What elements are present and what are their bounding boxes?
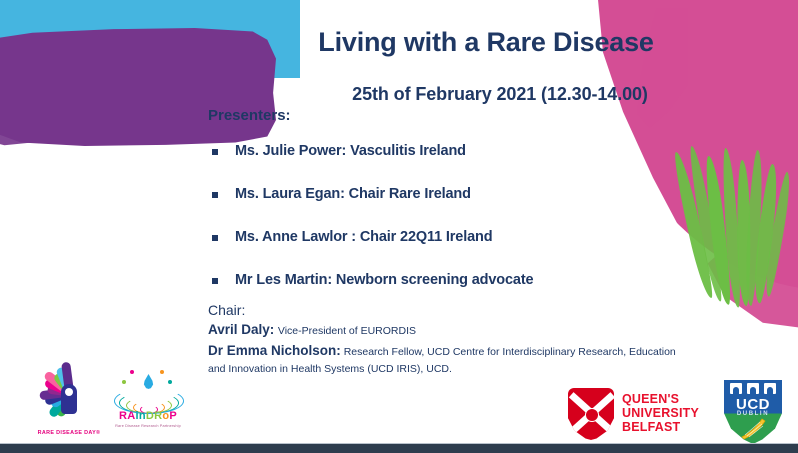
accent-dot-icon [168, 380, 172, 384]
purple-brush-wisp [0, 118, 230, 152]
page-title: Living with a Rare Disease [300, 28, 672, 58]
pink-brush-lower [698, 240, 798, 330]
square-bullet-icon [212, 192, 218, 198]
ucd-tower-icon-2 [747, 383, 759, 394]
raindrop-w2: in [135, 410, 145, 422]
rare-disease-day-caption: RARE DISEASE DAY® [33, 430, 105, 436]
chair-role: Vice-President of EURORDIS [278, 325, 416, 337]
green-brush-strokes [666, 146, 798, 316]
green-brush-blade [736, 160, 752, 306]
square-bullet-icon [212, 149, 218, 155]
shield-centre-emblem [585, 408, 599, 422]
chair-name: Avril Daly: [208, 322, 274, 337]
list-item: Ms. Laura Egan: Chair Rare Ireland [208, 186, 678, 202]
presenter-list: Ms. Julie Power: Vasculitis Ireland Ms. … [208, 143, 678, 315]
raindrop-w1: RA [119, 410, 136, 422]
ripple-icon [114, 388, 182, 412]
raindrop-logo: RAinDRoP Rare Disease Research Partnersh… [108, 366, 188, 436]
queens-line-1: QUEEN'S [622, 392, 699, 406]
presenter-text: Ms. Laura Egan: Chair Rare Ireland [235, 186, 471, 202]
green-brush-blade [702, 155, 734, 306]
chair-person: Avril Daly: Vice-President of EURORDIS [208, 320, 688, 340]
list-item: Ms. Julie Power: Vasculitis Ireland [208, 143, 678, 159]
square-bullet-icon [212, 235, 218, 241]
chair-section: Chair: Avril Daly: Vice-President of EUR… [208, 300, 688, 378]
queens-university-belfast-logo: QUEEN'S UNIVERSITY BELFAST [568, 386, 716, 442]
presenters-heading: Presenters: [208, 107, 291, 124]
green-brush-blade [751, 163, 780, 304]
raindrop-subtitle: Rare Disease Research Partnership [108, 424, 188, 428]
square-bullet-icon [212, 278, 218, 284]
pink-brush-tail [608, 8, 688, 128]
green-brush-blade [686, 145, 725, 303]
figure-head-icon [65, 388, 73, 396]
queens-wordmark: QUEEN'S UNIVERSITY BELFAST [622, 392, 699, 434]
cyan-brush-band [0, 0, 300, 78]
accent-dot-icon [122, 380, 126, 384]
presenter-text: Mr Les Martin: Newborn screening advocat… [235, 272, 533, 288]
raindrop-wordmark: RAinDRoP [108, 410, 188, 422]
rare-disease-day-logo: RARE DISEASE DAY® [33, 362, 105, 438]
raindrop-w5: P [169, 410, 177, 422]
chair-heading: Chair: [208, 300, 688, 320]
bottom-bar [0, 444, 798, 453]
accent-dot-icon [130, 370, 134, 374]
chair-person: Dr Emma Nicholson: Research Fellow, UCD … [208, 341, 688, 378]
water-drop-icon [143, 374, 154, 389]
queens-shield-icon [568, 388, 614, 440]
green-brush-blade [720, 148, 743, 308]
event-datetime: 25th of February 2021 (12.30-14.00) [300, 84, 700, 105]
accent-dot-icon [160, 370, 164, 374]
list-item: Mr Les Martin: Newborn screening advocat… [208, 272, 678, 288]
green-brush-blade [762, 171, 793, 297]
presenter-text: Ms. Anne Lawlor : Chair 22Q11 Ireland [235, 229, 492, 245]
ucd-harp-icon [738, 416, 768, 440]
ucd-tower-icon-3 [764, 383, 776, 394]
colored-hands-icon [37, 362, 101, 420]
green-brush-blade [744, 150, 764, 306]
presenter-text: Ms. Julie Power: Vasculitis Ireland [235, 143, 466, 159]
slide-canvas: Living with a Rare Disease 25th of Febru… [0, 0, 798, 453]
raindrop-w3: DR [146, 410, 163, 422]
queens-line-3: BELFAST [622, 420, 699, 434]
list-item: Ms. Anne Lawlor : Chair 22Q11 Ireland [208, 229, 678, 245]
purple-brush-stroke [0, 28, 276, 146]
ucd-tower-icon-1 [730, 383, 742, 394]
queens-line-2: UNIVERSITY [622, 406, 699, 420]
chair-name: Dr Emma Nicholson: [208, 343, 341, 358]
ucd-dublin-logo: UCD DUBLIN [724, 380, 782, 444]
bottom-hairline [0, 443, 798, 444]
